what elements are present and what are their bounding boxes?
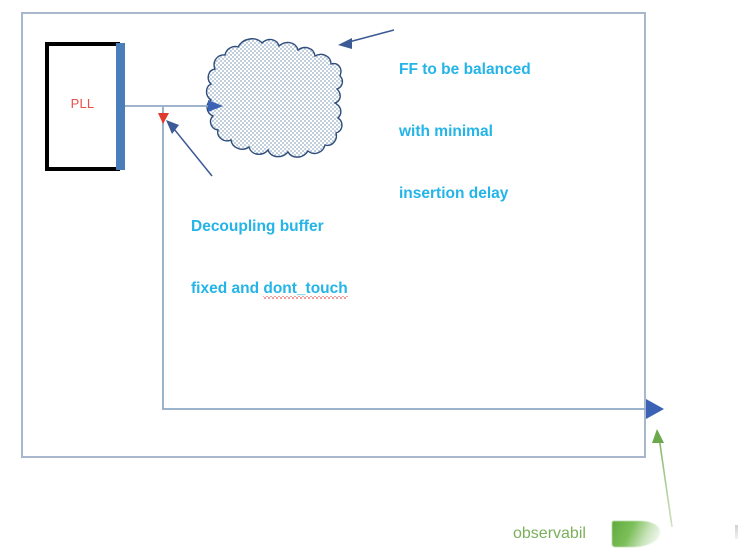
- page-edge-artifact: [735, 525, 738, 539]
- ff-annotation-line-3: insertion delay: [399, 184, 531, 205]
- ff-callout-arrowhead: [338, 38, 352, 49]
- decoupling-annotation-line-2: fixed and dont_touch: [191, 279, 348, 300]
- decoupling-annotation-line-1: Decoupling buffer: [191, 217, 348, 238]
- diagram-canvas: PLL FF to be balanced with minimal inser…: [0, 0, 755, 557]
- observability-callout-arrowhead: [652, 429, 664, 443]
- logic-cloud-shape: [207, 39, 343, 157]
- decoupling-annotation-prefix: fixed and: [191, 280, 263, 297]
- observability-label: observabil: [513, 525, 586, 543]
- ff-annotation-line-2: with minimal: [399, 122, 531, 143]
- decoupling-annotation: Decoupling buffer fixed and dont_touch: [191, 176, 348, 341]
- ff-annotation-line-1: FF to be balanced: [399, 60, 531, 81]
- ff-callout-arrow: [345, 30, 394, 43]
- ff-balanced-annotation: FF to be balanced with minimal insertion…: [399, 19, 531, 246]
- decoupling-callout-arrow: [170, 124, 212, 176]
- decoupling-annotation-misspelled-word: dont_touch: [263, 280, 347, 297]
- pll-label: PLL: [45, 96, 120, 111]
- observability-callout-arrow: [659, 437, 672, 527]
- feedback-path-arrowhead: [646, 399, 664, 419]
